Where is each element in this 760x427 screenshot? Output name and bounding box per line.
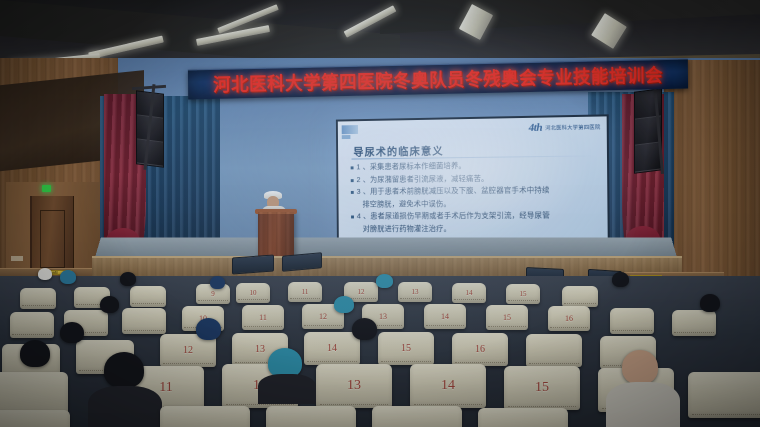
auditorium-photo: 河北医科大学第四医院冬奥队员冬残奥会专业技能培训会 4th 河北医科大学第四医院…	[0, 0, 760, 427]
seat-number: 14	[466, 290, 473, 297]
seat-number: 14	[327, 344, 337, 354]
ceiling-panel	[380, 0, 760, 34]
seat[interactable]	[266, 406, 356, 427]
audience-member-head	[60, 270, 76, 284]
bullet-square-icon	[351, 166, 354, 169]
seat[interactable]	[122, 308, 166, 334]
seat[interactable]: 15	[504, 366, 580, 410]
exit-sign-icon	[42, 185, 51, 192]
logo-institution-name: 河北医科大学第四医院	[545, 123, 600, 131]
seat[interactable]: 11	[242, 305, 284, 330]
seat[interactable]	[526, 334, 582, 367]
audience-member-head	[622, 350, 658, 384]
seat-number: 13	[255, 345, 265, 355]
slide-corner-decoration	[342, 125, 358, 134]
bullet-line: 1 、采集患者尿标本作细菌培养。	[356, 161, 466, 173]
audience-member-head	[700, 294, 720, 312]
slide-bullet-item: 3 、用于患者术前膀胱减压以及下腹、盆腔器官手术中持续	[351, 185, 599, 197]
seat[interactable]	[20, 288, 56, 309]
presentation-slide: 4th 河北医科大学第四医院 导尿术的临床意义 1 、采集患者尿标本作细菌培养。…	[338, 116, 608, 252]
seat-number: 12	[319, 313, 327, 321]
seat[interactable]	[562, 286, 598, 307]
seat[interactable]	[160, 406, 250, 427]
bullet-square-icon	[351, 215, 354, 218]
slide-bullet-item: 4 、患者尿道损伤早期或者手术后作为支架引流，经导尿管	[351, 210, 599, 221]
seat[interactable]	[130, 286, 166, 307]
seat-number: 16	[565, 315, 573, 323]
seat-number: 11	[159, 381, 172, 395]
audience-member-head	[38, 268, 52, 280]
seat-number: 15	[520, 291, 527, 298]
seat[interactable]: 16	[452, 333, 508, 366]
seat-number: 15	[503, 314, 511, 322]
seat[interactable]: 14	[452, 283, 486, 303]
bullet-square-icon	[351, 191, 354, 194]
seat[interactable]	[10, 312, 54, 338]
audience-member-head	[120, 272, 136, 286]
seat-number: 10	[250, 290, 257, 297]
seat[interactable]: 13	[316, 364, 392, 408]
speaker-segment	[137, 139, 163, 166]
auditorium-door[interactable]	[30, 196, 74, 278]
slide-bullet-continuation: 对膀胱进行药物灌注治疗。	[351, 223, 599, 234]
audience-member-head	[352, 318, 377, 340]
seat-number: 15	[535, 381, 549, 395]
seat-number: 14	[441, 379, 455, 393]
seat[interactable]: 14	[304, 332, 360, 365]
audience-member-body	[88, 386, 162, 427]
podium	[258, 210, 294, 258]
audience-member-body	[606, 382, 680, 427]
seat[interactable]: 10	[236, 283, 270, 303]
seat-number: 15	[401, 344, 411, 354]
seat[interactable]	[610, 308, 654, 334]
seat[interactable]: 14	[410, 364, 486, 408]
seat[interactable]: 11	[288, 282, 322, 302]
seat[interactable]: 16	[548, 306, 590, 331]
seat-number: 11	[302, 289, 309, 296]
seat-number: 9	[211, 291, 215, 298]
light-switch[interactable]	[11, 256, 23, 261]
audience-member-head	[612, 272, 629, 287]
seat[interactable]	[478, 408, 568, 427]
bullet-line: 2 、为尿潴留患者引流尿液，减轻痛苦。	[356, 173, 488, 185]
seat-number: 11	[259, 314, 267, 322]
door-panel	[40, 210, 65, 268]
speaker-segment	[635, 143, 661, 173]
seat[interactable]: 15	[378, 332, 434, 365]
stage-monitor-speaker	[232, 255, 274, 275]
seat[interactable]: 14	[424, 304, 466, 329]
seat[interactable]: 15	[486, 305, 528, 330]
audience-member-head	[20, 340, 50, 367]
audience-member-body	[258, 374, 316, 404]
seat[interactable]	[672, 310, 716, 336]
audience-member-head	[376, 274, 393, 288]
seat-number: 13	[379, 313, 387, 321]
seat-number: 16	[475, 345, 485, 355]
seat-number: 14	[441, 313, 449, 321]
seat[interactable]	[0, 410, 70, 427]
seat-number: 12	[183, 346, 193, 356]
seat[interactable]	[688, 372, 760, 418]
bullet-line: 排空膀胱，避免术中误伤。	[362, 199, 450, 210]
audience-member-head	[196, 318, 221, 340]
bullet-line: 3 、用于患者术前膀胱减压以及下腹、盆腔器官手术中持续	[357, 185, 550, 197]
seat[interactable]	[372, 406, 462, 427]
bullet-line: 对膀胱进行药物灌注治疗。	[363, 224, 451, 235]
seat-number: 12	[358, 289, 365, 296]
slide-bullet-continuation: 排空膀胱，避免术中误伤。	[351, 198, 599, 210]
bullet-line: 4 、患者尿道损伤早期或者手术后作为支架引流，经导尿管	[357, 211, 550, 222]
hospital-logo: 4th 河北医科大学第四医院	[529, 121, 601, 134]
slide-bullet-list: 1 、采集患者尿标本作细菌培养。 2 、为尿潴留患者引流尿液，减轻痛苦。 3 、…	[351, 159, 600, 236]
bullet-square-icon	[351, 179, 354, 182]
audience-member-head	[334, 296, 354, 313]
audience-member-head	[210, 276, 225, 289]
seat[interactable]: 13	[398, 282, 432, 302]
slide-bullet-item: 2 、为尿潴留患者引流尿液，减轻痛苦。	[351, 172, 599, 185]
audience-member-head	[60, 322, 84, 343]
slide-bullet-item: 1 、采集患者尿标本作细菌培养。	[351, 159, 599, 172]
seat-number: 13	[347, 379, 361, 393]
projection-screen: 4th 河北医科大学第四医院 导尿术的临床意义 1 、采集患者尿标本作细菌培养。…	[336, 114, 610, 254]
logo-mark-text: 4th	[529, 122, 543, 134]
audience-member-head	[100, 296, 119, 313]
wood-grain-texture	[258, 212, 294, 258]
seat-number: 13	[412, 289, 419, 296]
audience-member-head	[104, 352, 144, 388]
seat[interactable]: 15	[506, 284, 540, 304]
